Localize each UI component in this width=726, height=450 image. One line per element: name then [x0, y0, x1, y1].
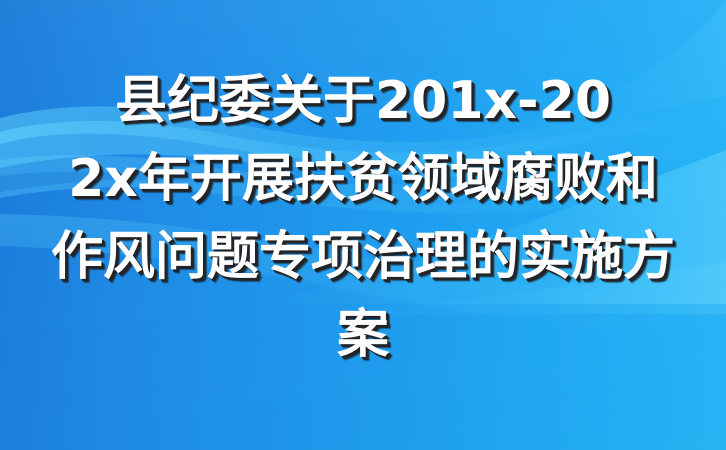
title-line-1: 县纪委关于201x-20: [14, 62, 712, 140]
page-title: 县纪委关于201x-20 2x年开展扶贫领域腐败和 作风问题专项治理的实施方 案: [0, 62, 726, 374]
title-line-2: 2x年开展扶贫领域腐败和: [14, 140, 712, 218]
title-line-4: 案: [14, 296, 712, 374]
title-line-3: 作风问题专项治理的实施方: [14, 218, 712, 296]
title-card-poster: 县纪委关于201x-20 2x年开展扶贫领域腐败和 作风问题专项治理的实施方 案: [0, 0, 726, 450]
